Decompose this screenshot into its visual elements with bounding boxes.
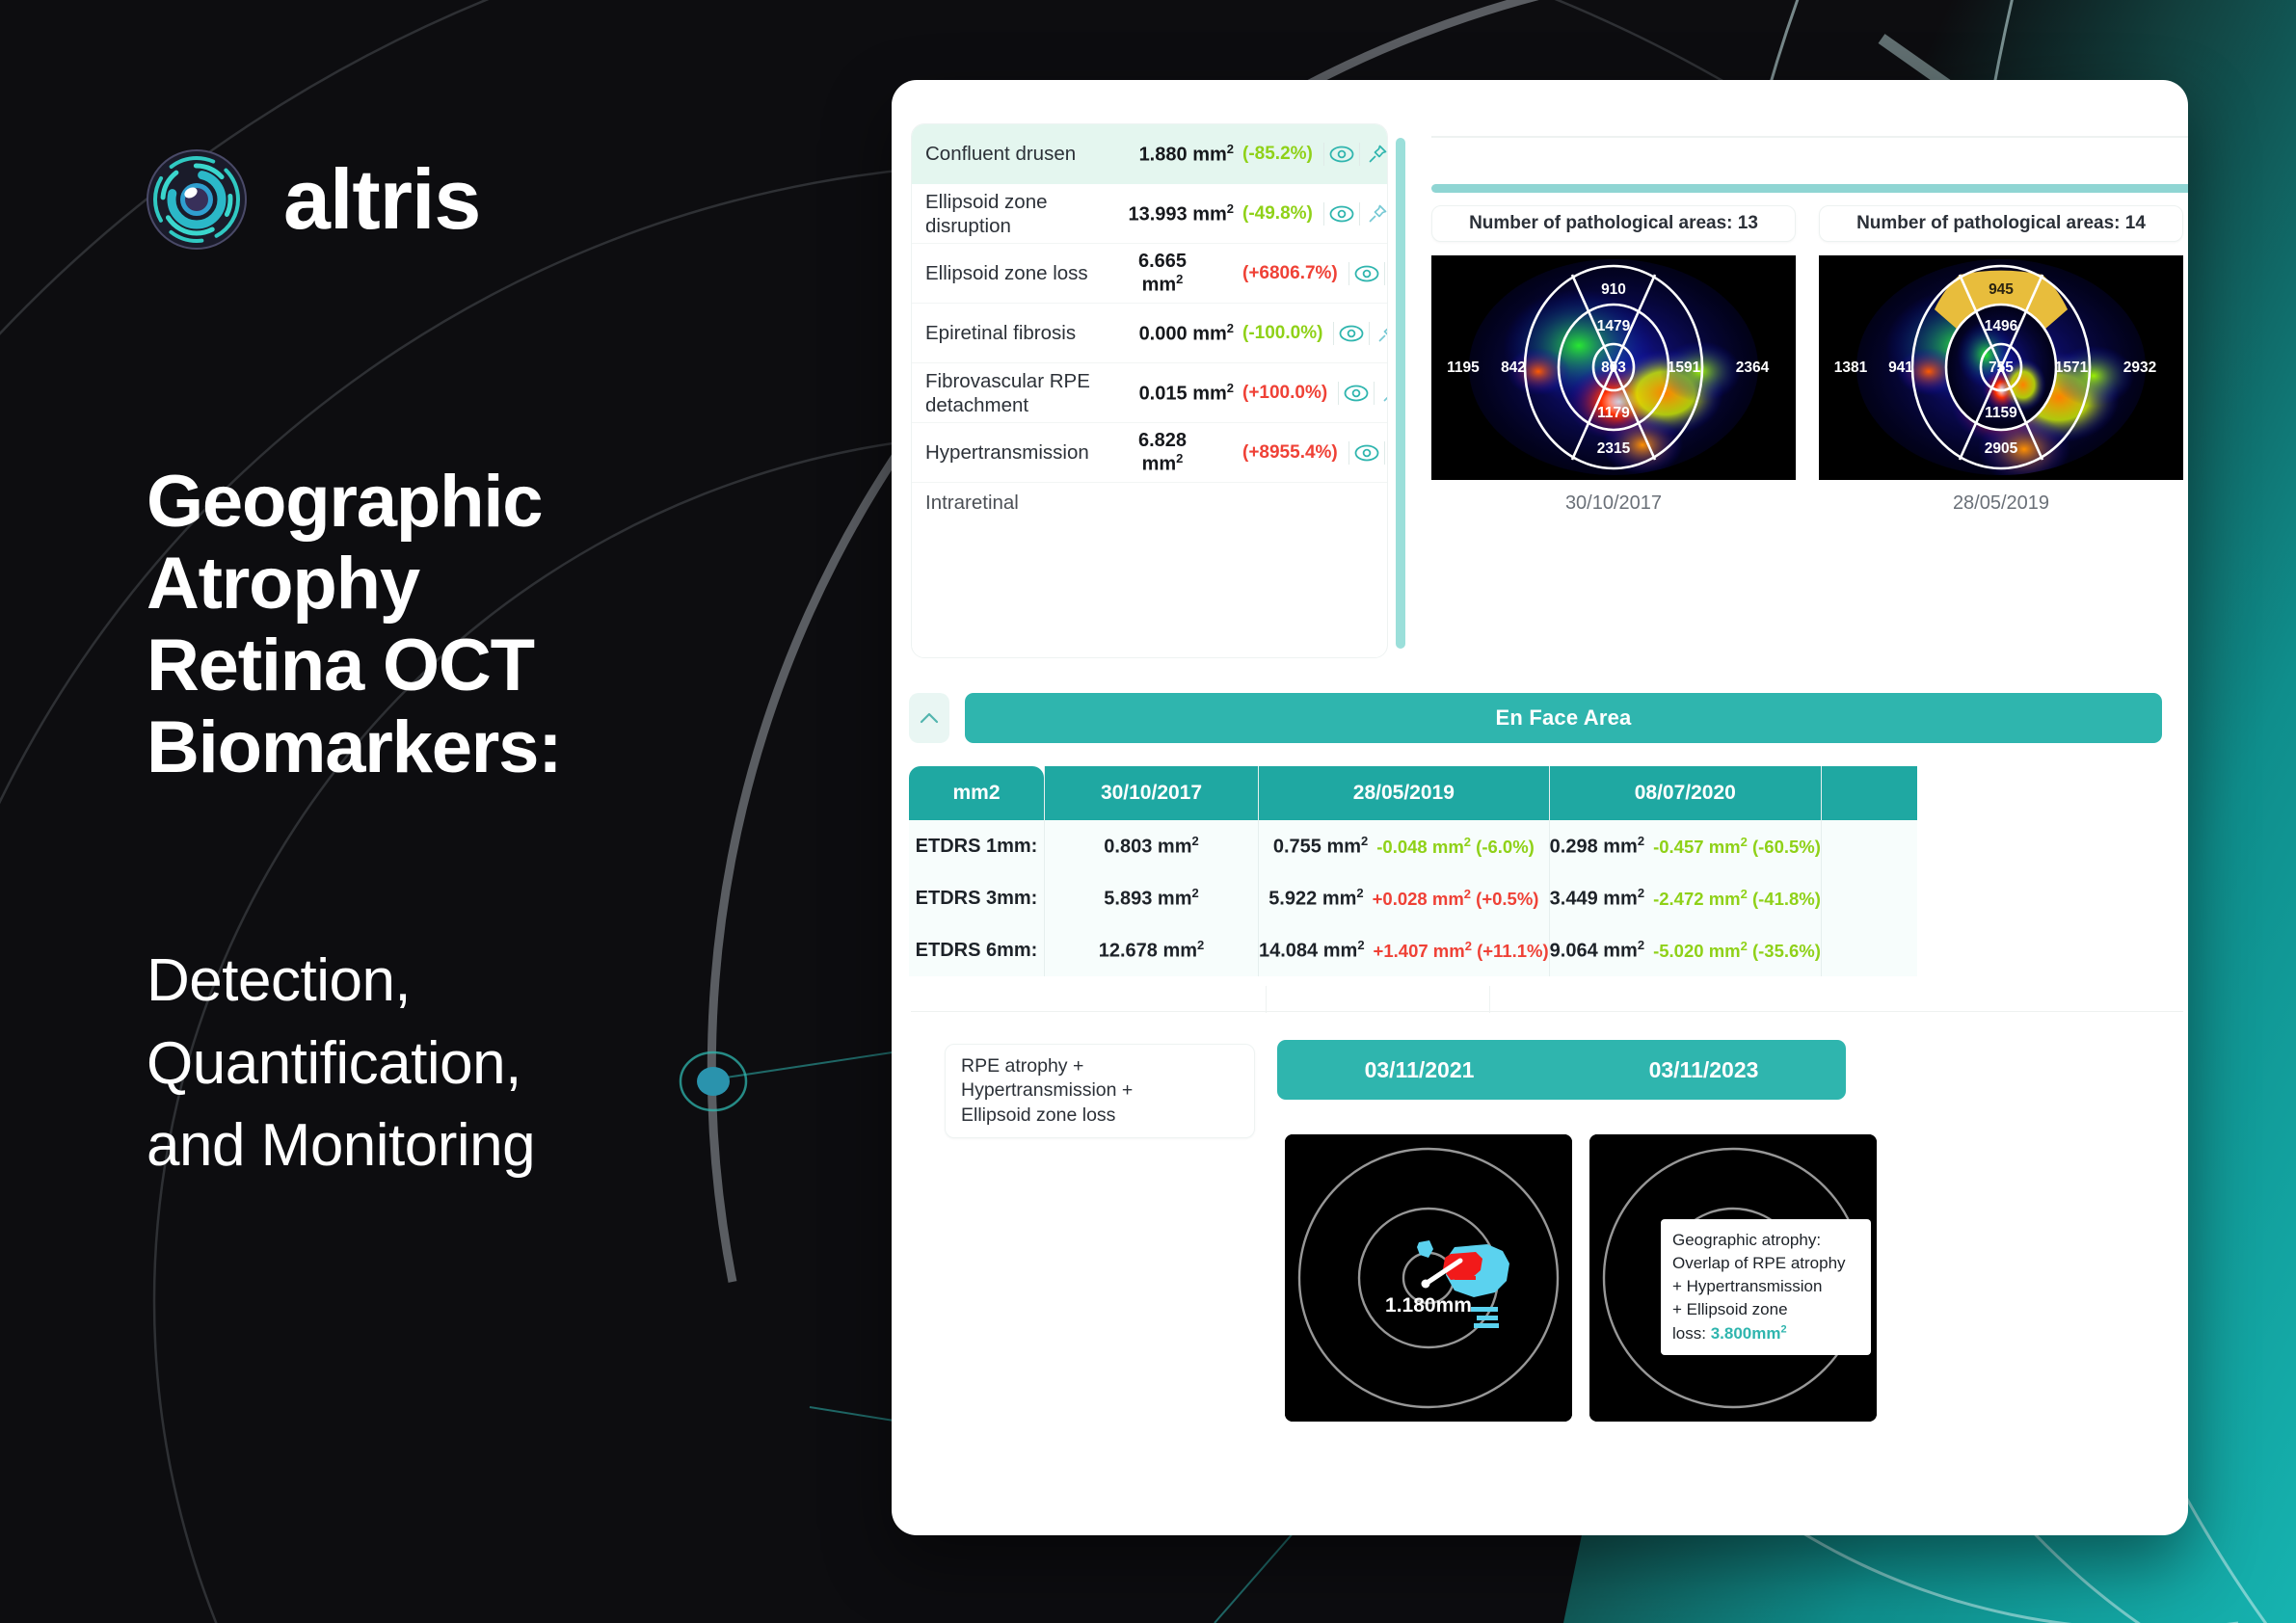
enface-date-column: 08/07/2020 0.298 mm2 -0.457 mm2 (-60.5%)… [1549, 766, 1821, 976]
tab-date-2021[interactable]: 03/11/2021 [1277, 1040, 1562, 1100]
enface-row-label: ETDRS 3mm: [909, 872, 1044, 924]
enface-date-header: 08/07/2020 [1550, 766, 1821, 820]
biomarker-actions [1313, 202, 1388, 226]
enface-section-header: En Face Area [909, 693, 2162, 743]
table-cell: 0.803 mm2 [1045, 820, 1258, 872]
sector-nasal-outer: 2364 [1736, 359, 1770, 376]
table-cell: 0.298 mm2 -0.457 mm2 (-60.5%) [1550, 820, 1821, 872]
title-line-2: Atrophy [147, 543, 821, 625]
enface-date-column: 30/10/2017 0.803 mm2 5.893 mm2 12.678 mm… [1044, 766, 1258, 976]
enface-date-column-clipped [1821, 766, 1917, 976]
biomarker-name: Ellipsoid zone loss [925, 261, 1091, 285]
biomarker-value: 13.993 mm2 [1091, 201, 1234, 226]
table-cell [1822, 924, 1917, 976]
biomarker-actions [1327, 382, 1388, 405]
retina-scan-pair: 1.180mm Geographic a [1285, 1134, 1877, 1422]
tooltip-line-3: + Hypertransmission [1672, 1275, 1859, 1298]
biomarker-list-scrollbar[interactable] [1396, 138, 1405, 649]
enface-date-header: 30/10/2017 [1045, 766, 1258, 820]
tooltip-line-5: loss: 3.800mm2 [1672, 1322, 1859, 1345]
chevron-up-icon[interactable] [909, 693, 949, 743]
biomarker-value: 6.828mm2 [1091, 430, 1234, 476]
app-screenshot-card: Confluent drusen 1.880 mm2 (-85.2%) Elli… [892, 80, 2188, 1535]
eye-icon[interactable] [1349, 265, 1384, 282]
table-cell: 5.922 mm2 +0.028 mm2 (+0.5%) [1259, 872, 1549, 924]
retina-scan-2021[interactable]: 1.180mm [1285, 1134, 1572, 1422]
tooltip-line-2: Overlap of RPE atrophy [1672, 1252, 1859, 1275]
pin-icon[interactable] [1360, 144, 1388, 165]
tab-date-2023[interactable]: 03/11/2023 [1562, 1040, 1846, 1100]
table-cell: 12.678 mm2 [1045, 924, 1258, 976]
biomarker-row[interactable]: Ellipsoid zone loss 6.665mm2 (+6806.7%) [912, 244, 1387, 304]
pathological-areas-chip: Number of pathological areas: 14 [1819, 205, 2183, 242]
enface-title[interactable]: En Face Area [965, 693, 2162, 743]
biomarker-delta: (+8955.4%) [1234, 442, 1338, 464]
biomarker-name: Confluent drusen [925, 142, 1091, 166]
biomarker-name: Hypertransmission [925, 440, 1091, 465]
subtitle-line-3: and Monitoring [147, 1104, 841, 1187]
geographic-atrophy-tooltip: Geographic atrophy: Overlap of RPE atrop… [1661, 1219, 1871, 1355]
sector-superior-outer: 910 [1601, 281, 1626, 298]
pathological-areas-chip: Number of pathological areas: 13 [1431, 205, 1796, 242]
pin-icon[interactable] [1360, 203, 1388, 225]
biomarker-row[interactable]: Ellipsoid zone disruption 13.993 mm2 (-4… [912, 184, 1387, 244]
etdrs-maps: Number of pathological areas: 13 [1431, 205, 2188, 533]
biomarker-delta: (-85.2%) [1234, 144, 1313, 165]
pin-icon[interactable] [1385, 263, 1388, 284]
sector-nasal-inner: 1591 [1668, 359, 1701, 376]
enface-date-column: 28/05/2019 0.755 mm2 -0.048 mm2 (-6.0%) … [1258, 766, 1549, 976]
legend-line-1: RPE atrophy + Hypertransmission + [961, 1055, 1133, 1101]
brand-lockup: altris [147, 149, 480, 250]
table-cell [1822, 820, 1917, 872]
biomarker-actions [1313, 143, 1388, 166]
biomarker-value: 6.665mm2 [1091, 251, 1234, 297]
sector-inferior-outer: 2905 [1985, 440, 2018, 457]
panel-divider [1431, 136, 2188, 138]
page-subtitle: Detection, Quantification, and Monitorin… [147, 940, 841, 1187]
enface-row-label: ETDRS 1mm: [909, 820, 1044, 872]
brand-name: altris [283, 157, 480, 242]
biomarker-row[interactable]: Confluent drusen 1.880 mm2 (-85.2%) [912, 124, 1387, 184]
compare-date-tabs: 03/11/2021 03/11/2023 [1277, 1040, 1846, 1100]
table-cell: 5.893 mm2 [1045, 872, 1258, 924]
enface-row-label: ETDRS 6mm: [909, 924, 1044, 976]
enface-date-header: 28/05/2019 [1259, 766, 1549, 820]
enface-unit-header: mm2 [909, 766, 1044, 820]
sector-inferior-inner: 1159 [1985, 405, 2017, 421]
title-line-3: Retina OCT [147, 625, 821, 706]
biomarker-row[interactable]: Intraretinal [912, 483, 1387, 521]
sector-center: 755 [1989, 359, 2014, 376]
sector-superior-inner: 1496 [1985, 318, 2018, 334]
legend-line-2: Ellipsoid zone loss [961, 1104, 1115, 1126]
eye-icon[interactable] [1334, 325, 1369, 342]
title-line-4: Biomarkers: [147, 706, 821, 788]
biomarker-actions [1338, 441, 1388, 465]
sector-temporal-inner: 941 [1888, 359, 1913, 376]
biomarker-delta: (-49.8%) [1234, 203, 1313, 225]
biomarker-actions [1338, 262, 1388, 285]
biomarker-name: Ellipsoid zone disruption [925, 190, 1091, 238]
pin-icon[interactable] [1375, 383, 1388, 404]
biomarker-name: Epiretinal fibrosis [925, 321, 1091, 345]
biomarker-delta: (-100.0%) [1234, 323, 1322, 344]
biomarker-name: Fibrovascular RPE detachment [925, 369, 1091, 417]
sector-nasal-inner: 1571 [2055, 359, 2089, 376]
sector-temporal-outer: 1381 [1834, 359, 1868, 376]
map-date: 30/10/2017 [1431, 492, 1796, 515]
section-divider [911, 1011, 2183, 1012]
enface-date-header [1822, 766, 1917, 820]
eye-icon[interactable] [1339, 385, 1374, 402]
biomarker-delta: (+100.0%) [1234, 383, 1327, 404]
biomarker-list-panel[interactable]: Confluent drusen 1.880 mm2 (-85.2%) Elli… [911, 123, 1388, 658]
title-line-1: Geographic [147, 461, 821, 543]
enface-table: mm2 ETDRS 1mm: ETDRS 3mm: ETDRS 6mm: 30/… [909, 766, 2188, 976]
biomarker-row[interactable]: Epiretinal fibrosis 0.000 mm2 (-100.0%) [912, 304, 1387, 363]
biomarker-row[interactable]: Hypertransmission 6.828mm2 (+8955.4%) [912, 423, 1387, 483]
scan-measure-label: 1.180mm [1285, 1294, 1572, 1317]
tooltip-line-1: Geographic atrophy: [1672, 1229, 1859, 1252]
etdrs-thickness-map[interactable]: 910 1479 1195 842 803 1591 2364 1179 231… [1431, 255, 1796, 480]
biomarker-value: 1.880 mm2 [1091, 142, 1234, 167]
column-divider [1266, 986, 1267, 1013]
pin-icon[interactable] [1370, 323, 1388, 344]
biomarker-delta: (+6806.7%) [1234, 263, 1338, 284]
sector-temporal-outer: 1195 [1447, 359, 1480, 376]
subtitle-line-2: Quantification, [147, 1023, 841, 1105]
map-date: 28/05/2019 [1819, 492, 2183, 515]
sector-temporal-inner: 842 [1501, 359, 1526, 376]
biomarker-value: 0.000 mm2 [1091, 321, 1234, 346]
column-divider [1489, 986, 1490, 1013]
eye-icon[interactable] [1324, 205, 1359, 223]
enface-row-label-column: mm2 ETDRS 1mm: ETDRS 3mm: ETDRS 6mm: [909, 766, 1044, 976]
sector-nasal-outer: 2932 [2123, 359, 2156, 376]
eye-icon[interactable] [1349, 444, 1384, 462]
etdrs-map-card: Number of pathological areas: 13 [1431, 205, 1796, 533]
hero-section: altris Geographic Atrophy Retina OCT Bio… [0, 0, 916, 1623]
table-cell [1822, 872, 1917, 924]
eye-icon[interactable] [1324, 146, 1359, 163]
retina-scan-2023[interactable]: Geographic atrophy: Overlap of RPE atrop… [1589, 1134, 1877, 1422]
altris-eye-logo-icon [147, 149, 247, 250]
tooltip-line-4: + Ellipsoid zone [1672, 1298, 1859, 1321]
subtitle-line-1: Detection, [147, 940, 841, 1023]
etdrs-map-card: Number of pathological areas: 14 [1819, 205, 2183, 533]
section-accent-rule [1431, 184, 2188, 193]
table-cell: 9.064 mm2 -5.020 mm2 (-35.6%) [1550, 924, 1821, 976]
overlay-legend: RPE atrophy + Hypertransmission + Ellips… [945, 1044, 1255, 1138]
page-title: Geographic Atrophy Retina OCT Biomarkers… [147, 461, 821, 788]
table-cell: 3.449 mm2 -2.472 mm2 (-41.8%) [1550, 872, 1821, 924]
sector-inferior-inner: 1179 [1597, 405, 1630, 421]
table-cell: 14.084 mm2 +1.407 mm2 (+11.1%) [1259, 924, 1549, 976]
biomarker-name: Intraretinal [925, 491, 1091, 515]
table-cell: 0.755 mm2 -0.048 mm2 (-6.0%) [1259, 820, 1549, 872]
sector-superior-outer: 945 [1989, 281, 2014, 298]
pin-icon[interactable] [1385, 442, 1388, 464]
etdrs-thickness-map[interactable]: 945 1496 1381 941 755 1571 2932 1159 290… [1819, 255, 2183, 480]
biomarker-value: 0.015 mm2 [1091, 381, 1234, 406]
sector-center: 803 [1601, 359, 1626, 376]
biomarker-row[interactable]: Fibrovascular RPE detachment 0.015 mm2 (… [912, 363, 1387, 423]
sector-inferior-outer: 2315 [1597, 440, 1631, 457]
biomarker-actions [1322, 322, 1388, 345]
sector-superior-inner: 1479 [1597, 318, 1631, 334]
